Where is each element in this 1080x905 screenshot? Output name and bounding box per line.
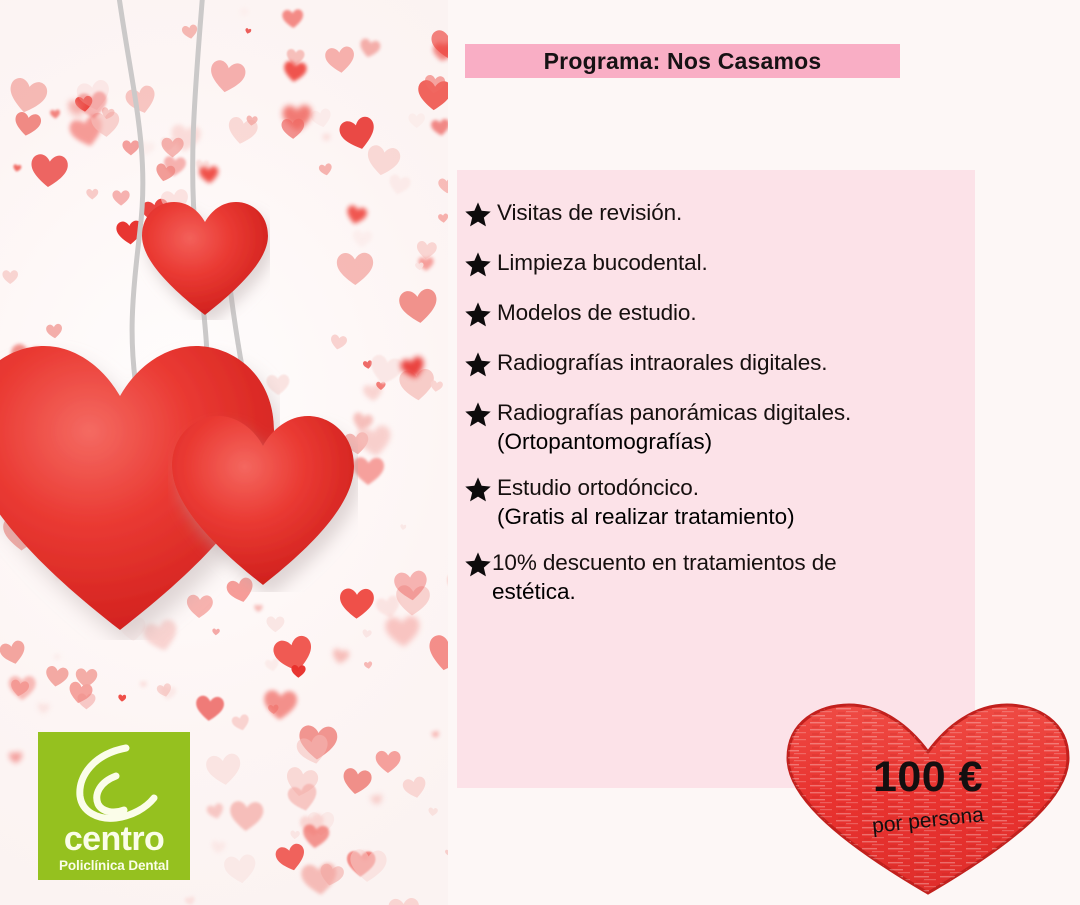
price-content: 100 € por persona [783, 756, 1073, 833]
benefit-sublabel: estética. [492, 577, 837, 606]
benefit-text-block: Estudio ortodóncico.(Gratis al realizar … [497, 473, 795, 531]
logo: centro Policlínica Dental [38, 732, 190, 880]
benefit-item: Radiografías panorámicas digitales.(Orto… [463, 398, 975, 456]
benefit-label: Visitas de revisión. [497, 200, 682, 225]
heart-icon [140, 200, 270, 320]
price-badge: 100 € por persona [783, 700, 1073, 898]
poster-root: Programa: Nos Casamos Visitas de revisió… [0, 0, 1080, 905]
benefit-sublabel: (Ortopantomografías) [497, 427, 851, 456]
benefit-item: Estudio ortodóncico.(Gratis al realizar … [463, 473, 975, 531]
benefits-panel: Visitas de revisión.Limpieza bucodental.… [457, 170, 975, 788]
logo-tagline: Policlínica Dental [38, 858, 190, 873]
benefit-text-block: Radiografías intraorales digitales. [497, 348, 827, 377]
benefit-label: Radiografías intraorales digitales. [497, 350, 827, 375]
star-icon [463, 201, 493, 229]
star-icon [463, 251, 493, 279]
benefit-text-block: Limpieza bucodental. [497, 248, 708, 277]
star-icon [463, 301, 493, 329]
price-amount: 100 € [783, 756, 1073, 799]
benefit-item: Radiografías intraorales digitales. [463, 348, 975, 379]
benefit-item: Limpieza bucodental. [463, 248, 975, 279]
benefit-text-block: Visitas de revisión. [497, 198, 682, 227]
star-icon [463, 551, 493, 579]
title-banner: Programa: Nos Casamos [465, 44, 900, 78]
benefit-item: Visitas de revisión. [463, 198, 975, 229]
benefit-label: Estudio ortodóncico. [497, 475, 699, 500]
benefit-label: Modelos de estudio. [497, 300, 696, 325]
benefit-item: 10% descuento en tratamientos deestética… [463, 548, 975, 606]
benefit-label: Radiografías panorámicas digitales. [497, 400, 851, 425]
benefit-label: 10% descuento en tratamientos de [492, 550, 837, 575]
benefit-item: Modelos de estudio. [463, 298, 975, 329]
page-title: Programa: Nos Casamos [544, 48, 822, 75]
star-icon [463, 401, 493, 429]
arc-swoosh-icon [64, 742, 164, 824]
benefit-label: Limpieza bucodental. [497, 250, 708, 275]
benefit-text-block: 10% descuento en tratamientos deestética… [492, 548, 837, 606]
star-icon [463, 476, 493, 504]
benefit-text-block: Radiografías panorámicas digitales.(Orto… [497, 398, 851, 456]
benefits-list: Visitas de revisión.Limpieza bucodental.… [463, 198, 975, 623]
star-icon [463, 351, 493, 379]
benefit-sublabel: (Gratis al realizar tratamiento) [497, 502, 795, 531]
heart-icon [168, 412, 358, 592]
logo-wordmark: centro [38, 822, 190, 856]
benefit-text-block: Modelos de estudio. [497, 298, 696, 327]
